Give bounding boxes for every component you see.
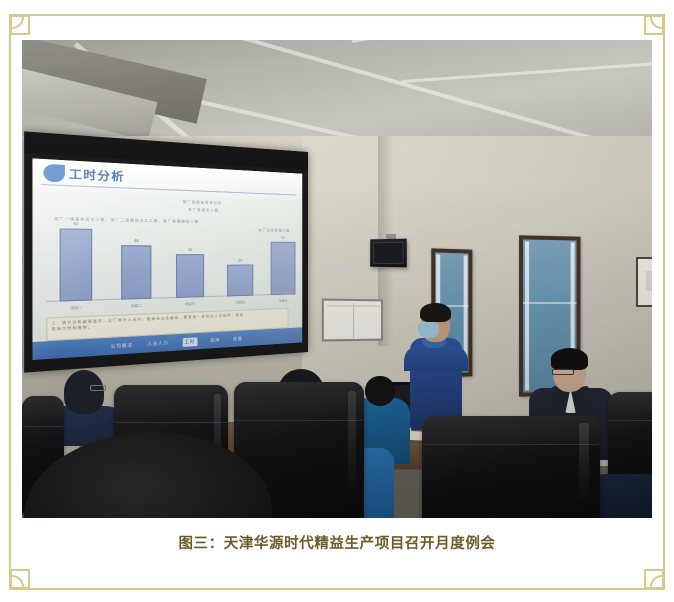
chair-headrest [422, 416, 600, 445]
attendee-head [64, 370, 104, 414]
chart-bar-category: 项目二 [121, 303, 151, 309]
chair-headrest [608, 392, 652, 421]
chart-bar [271, 242, 296, 295]
chair-highlight [579, 423, 590, 501]
slide-nav-item-5: 改善 [233, 335, 243, 342]
chart-bar-category: 项目四 [227, 300, 253, 305]
window-glare [525, 241, 529, 390]
corner-ornament-top-left [10, 15, 30, 35]
face-mask-icon [418, 322, 439, 338]
chair-headrest [22, 396, 64, 427]
chart-bar-value: 40 [176, 248, 204, 252]
slide-title: 工时分析 [69, 164, 125, 184]
slide-accent-shape [43, 164, 64, 183]
slide-note-top-a: 某 厂 班 组 长 现 状 分 析 [183, 200, 221, 206]
window-mullion [523, 302, 576, 304]
chart-bar [60, 228, 93, 301]
notice-board [322, 299, 383, 342]
office-chair-foreground [422, 416, 600, 518]
meeting-photograph: 工时分析 某 厂 班 组 长 现 状 分 析 各 厂 班 组 长 人 数 某 厂… [22, 40, 652, 518]
chart-bar [227, 264, 253, 296]
chart-bar-category: 项目五 [271, 298, 296, 303]
ceiling-grid-line [352, 40, 652, 43]
slide-surface: 工时分析 某 厂 班 组 长 现 状 分 析 各 厂 班 组 长 人 数 某 厂… [32, 158, 302, 360]
chart-bar-value: 52 [271, 236, 296, 240]
slide-nav-item-4: 现场 [210, 337, 220, 344]
presenter-shoulders [404, 345, 468, 371]
slide-nav-item-3-active: 工时 [182, 337, 197, 347]
chair-highlight [348, 391, 356, 496]
slide-nav-item-2: 人员人力 [147, 340, 168, 348]
wall-speaker [370, 239, 407, 268]
chart-bar [176, 254, 204, 298]
page-root: 工时分析 某 厂 班 组 长 现 状 分 析 各 厂 班 组 长 人 数 某 厂… [0, 0, 674, 602]
glasses-icon [90, 385, 106, 391]
slide-note-top-b: 各 厂 班 组 长 人 数 [188, 207, 218, 212]
projector-screen: 工时分析 某 厂 班 组 长 现 状 分 析 各 厂 班 组 长 人 数 某 厂… [24, 131, 308, 372]
figure-caption: 图三：天津华源时代精益生产项目召开月度例会 [0, 532, 674, 553]
corner-ornament-top-right [644, 15, 664, 35]
ceiling-grid-line [402, 59, 652, 83]
chair-headrest [114, 385, 228, 423]
chart-bar-value: 48 [121, 238, 151, 243]
chart-bar-value: 62 [60, 221, 93, 226]
corner-ornament-bottom-right [644, 569, 664, 589]
chart-bar-value: 30 [227, 258, 253, 262]
framed-picture [636, 257, 652, 307]
attendee-hair [551, 348, 588, 370]
chart-bar [121, 245, 151, 300]
chart-bar-category: 项目一 [60, 305, 93, 311]
glasses-icon [552, 369, 574, 375]
presenter-hair [420, 303, 451, 322]
attendee-teal-head [365, 376, 395, 406]
slide-nav-item-1: 公司概况 [111, 342, 133, 350]
chart-bar-category: 项目三 [176, 301, 204, 306]
slide-bar-chart: 62 项目一 48 项目二 40 项目三 30 项目四 52 项目五 [46, 212, 294, 314]
chair-headrest [234, 382, 364, 421]
corner-ornament-bottom-left [10, 569, 30, 589]
